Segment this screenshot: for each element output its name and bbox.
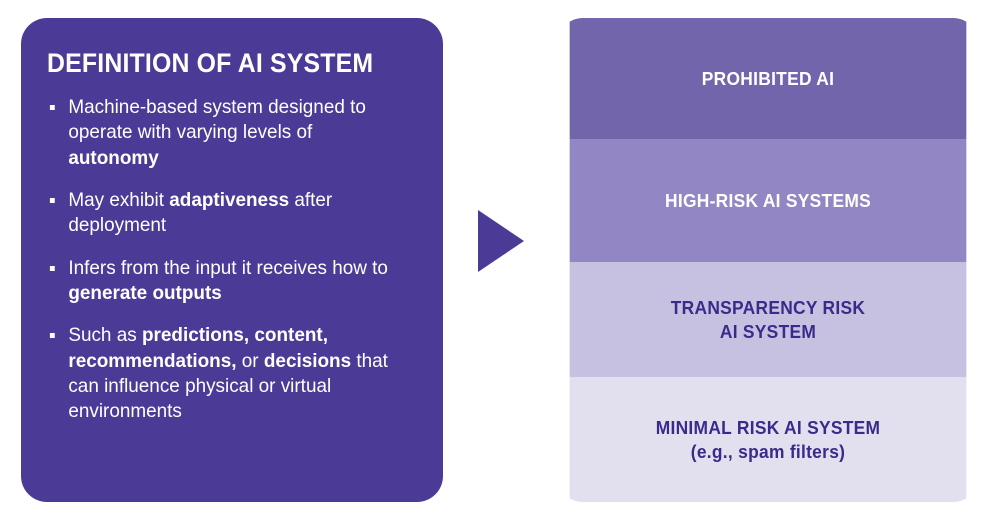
risk-band-sublabel: (e.g., spam filters) — [656, 440, 881, 463]
risk-band-label-wrap: PROHIBITED AI — [702, 67, 834, 90]
bullet-emphasis: decisions — [264, 350, 351, 372]
risk-band-sublabel: AI SYSTEM — [671, 320, 866, 343]
risk-band-label-wrap: MINIMAL RISK AI SYSTEM(e.g., spam filter… — [656, 416, 881, 463]
definition-bullet-generate-outputs: Infers from the input it receives how to… — [47, 256, 406, 307]
bullet-text: Infers from the input it receives how to — [68, 257, 388, 279]
bullet-emphasis: generate outputs — [68, 282, 221, 304]
bullet-text: or — [237, 350, 264, 372]
definition-card: DEFINITION OF AI SYSTEM Machine-based sy… — [21, 18, 443, 502]
risk-band-minimal-risk-ai-system: MINIMAL RISK AI SYSTEM(e.g., spam filter… — [570, 377, 967, 502]
ai-act-risk-diagram: DEFINITION OF AI SYSTEM Machine-based sy… — [0, 0, 1000, 520]
bullet-marker-icon — [50, 105, 55, 110]
bullet-emphasis: autonomy — [68, 147, 158, 169]
page-title: DEFINITION OF AI SYSTEM — [47, 48, 387, 79]
bullet-text: May exhibit — [68, 189, 169, 211]
definition-bullet-outputs-types: Such as predictions, content, recommenda… — [47, 323, 406, 424]
bullet-emphasis: adaptiveness — [169, 189, 289, 211]
risk-level-pyramid: PROHIBITED AIHIGH-RISK AI SYSTEMSTRANSPA… — [557, 18, 979, 502]
bullet-marker-icon — [50, 198, 55, 203]
bullet-text: Such as — [68, 324, 142, 346]
risk-band-label: HIGH-RISK AI SYSTEMS — [665, 189, 871, 212]
risk-band-label: MINIMAL RISK AI SYSTEM — [656, 416, 881, 439]
risk-band-label-wrap: HIGH-RISK AI SYSTEMS — [665, 189, 871, 212]
risk-band-label: PROHIBITED AI — [702, 67, 834, 90]
bullet-marker-icon — [50, 333, 55, 338]
bullet-text: Machine-based system designed to operate… — [68, 96, 366, 143]
definition-bullet-adaptiveness: May exhibit adaptiveness after deploymen… — [47, 188, 406, 239]
definition-bullet-autonomy: Machine-based system designed to operate… — [47, 95, 406, 171]
definition-bullet-list: Machine-based system designed to operate… — [47, 95, 417, 425]
risk-band-label: TRANSPARENCY RISK — [671, 296, 866, 319]
risk-band-label-wrap: TRANSPARENCY RISKAI SYSTEM — [671, 296, 866, 343]
risk-band-prohibited-ai: PROHIBITED AI — [570, 18, 967, 139]
bullet-marker-icon — [50, 266, 55, 271]
risk-band-transparency-risk-ai-system: TRANSPARENCY RISKAI SYSTEM — [570, 262, 967, 377]
triangle-right-icon — [478, 210, 524, 272]
risk-band-high-risk-ai-systems: HIGH-RISK AI SYSTEMS — [570, 139, 967, 262]
